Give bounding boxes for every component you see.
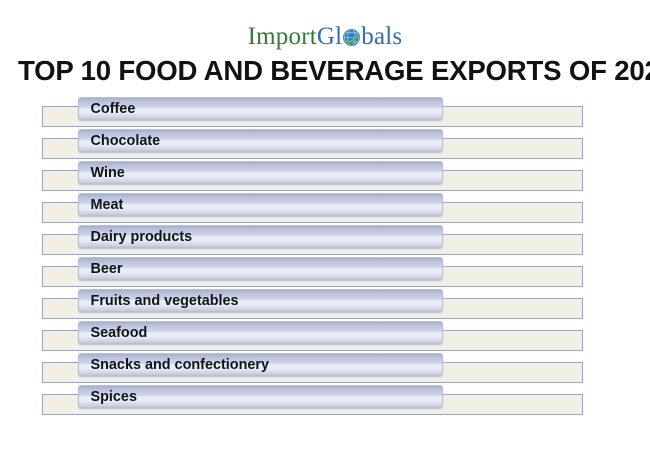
brand-logo: ImportGlbals [0,24,650,49]
bar-row: Seafood [0,320,650,352]
bar-chocolate[interactable]: Chocolate [78,129,443,152]
bar-row: Fruits and vegetables [0,288,650,320]
bar-meat[interactable]: Meat [78,193,443,216]
bar-label: Coffee [79,101,135,116]
bar-dairy-products[interactable]: Dairy products [78,225,443,248]
bar-row: Beer [0,256,650,288]
bar-wine[interactable]: Wine [78,161,443,184]
globe-icon [342,27,361,46]
bar-seafood[interactable]: Seafood [78,321,443,344]
bar-label: Chocolate [79,133,160,148]
bar-row: Meat [0,192,650,224]
bar-row: Chocolate [0,128,650,160]
bar-chart: Coffee Chocolate Wine Meat Dairy product [0,96,650,436]
bar-row: Spices [0,384,650,416]
bar-row: Snacks and confectionery [0,352,650,384]
bar-label: Spices [79,389,137,404]
bar-beer[interactable]: Beer [78,257,443,280]
bar-spices[interactable]: Spices [78,385,443,408]
brand-logo-gl: Gl [317,23,342,50]
brand-logo-bals: bals [361,23,402,50]
bar-snacks-and-confectionery[interactable]: Snacks and confectionery [78,353,443,376]
bar-label: Wine [79,165,125,180]
bar-label: Meat [79,197,123,212]
bar-label: Seafood [79,325,147,340]
bar-label: Beer [79,261,123,276]
bar-label: Snacks and confectionery [79,357,269,372]
bar-row: Dairy products [0,224,650,256]
brand-logo-text: ImportGlbals [248,24,403,49]
bar-fruits-and-vegetables[interactable]: Fruits and vegetables [78,289,443,312]
bar-coffee[interactable]: Coffee [78,97,443,120]
bar-label: Dairy products [79,229,192,244]
bar-row: Coffee [0,96,650,128]
bar-label: Fruits and vegetables [79,293,239,308]
brand-logo-import: Import [248,23,317,50]
infographic-canvas: ImportGlbals TOP 10 FOOD AND BEVERAGE EX… [0,0,650,450]
bar-row: Wine [0,160,650,192]
page-title: TOP 10 FOOD AND BEVERAGE EXPORTS OF 2023 [18,55,625,87]
